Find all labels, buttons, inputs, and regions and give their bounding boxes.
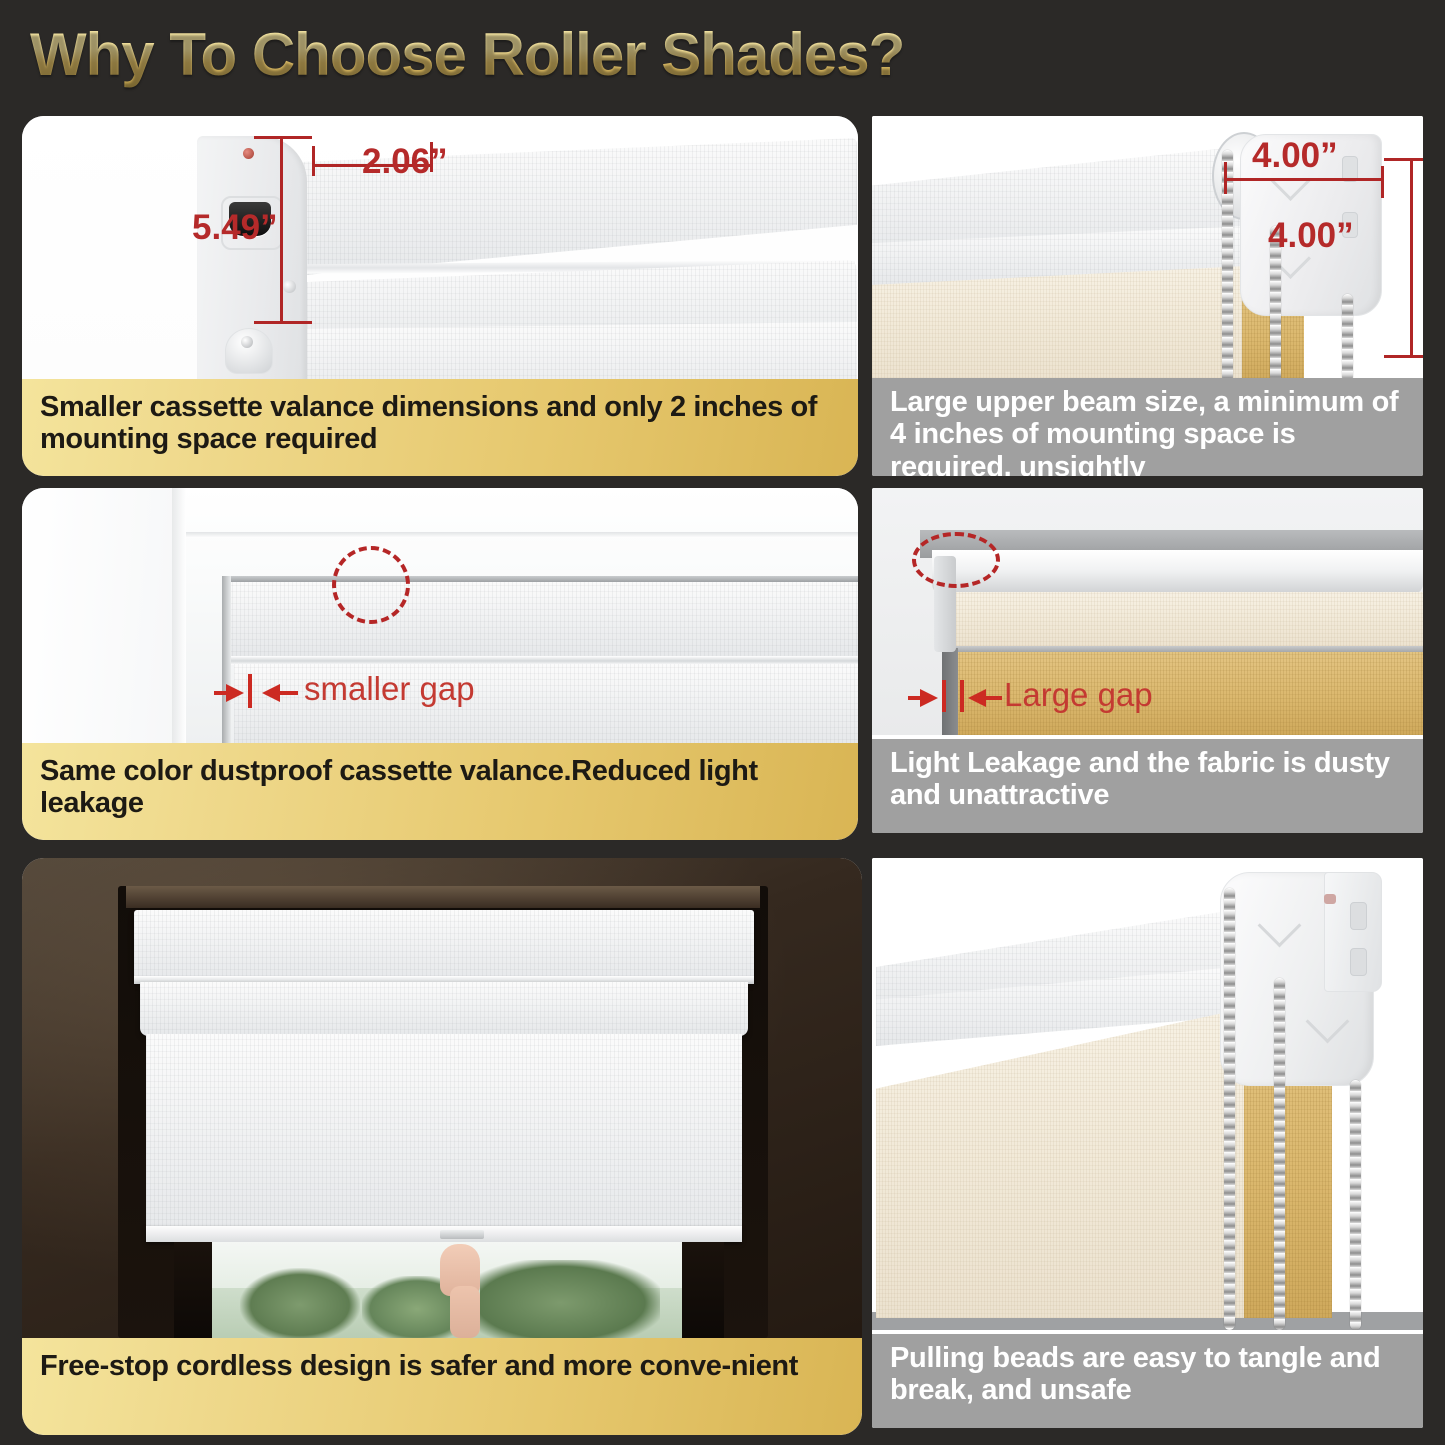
window-frame-closeup-photo: smaller gap [22, 488, 858, 746]
panel-dustproof-cassette-valance: smaller gap Same color dustproof cassett… [22, 488, 858, 840]
panel-free-stop-cordless: Free-stop cordless design is safer and m… [22, 858, 862, 1435]
window-side-jamb-right [682, 1242, 724, 1338]
panel-large-upper-beam: 4.00” 4.00” Large upper beam size, a min… [872, 116, 1423, 476]
caption-free-stop-cordless: Free-stop cordless design is safer and m… [22, 1338, 862, 1435]
page-title: Why To Choose Roller Shades? [30, 20, 904, 89]
beam-height-tick-top [1384, 158, 1423, 161]
width-dimension-label: 2.06” [362, 142, 448, 182]
bead-chain-photo [872, 858, 1423, 1330]
caption-pulling-beads-tangle: Pulling beads are easy to tangle and bre… [872, 1334, 1423, 1428]
width-dimension-tick-left [312, 146, 315, 176]
panel-pulling-beads-tangle: Pulling beads are easy to tangle and bre… [872, 858, 1423, 1428]
beam-width-tick-right [1381, 166, 1384, 198]
beam-height-tick-bottom [1384, 355, 1423, 358]
bead-chain-side [1342, 294, 1353, 382]
height-dimension-tick-bottom [254, 321, 312, 324]
window-top-reveal [126, 886, 760, 908]
valance-left-rail [222, 576, 231, 746]
gap-measure-bar-right [960, 680, 964, 712]
upper-beam-dimension-photo: 4.00” 4.00” [872, 116, 1423, 382]
gap-arrow-right-stem [278, 691, 298, 695]
valance-top-face [272, 138, 857, 278]
bead-chain-front[interactable] [1224, 888, 1235, 1330]
valance-lower-body [275, 322, 857, 379]
bracket-slot-upper [1350, 902, 1367, 930]
gap-arrow-left-stem [908, 696, 922, 700]
valance-dimension-photo: 5.49” 2.06” [22, 116, 858, 379]
gap-measure-bar [248, 674, 252, 708]
rolled-fabric-band [140, 982, 748, 1036]
tree-left [240, 1268, 360, 1338]
valance-screw-upper [283, 280, 296, 293]
smaller-gap-label: smaller gap [304, 670, 475, 708]
caption-light-leakage-dusty: Light Leakage and the fabric is dusty an… [872, 739, 1423, 833]
fabric-cream-panel [872, 266, 1246, 382]
page-header: Why To Choose Roller Shades? [0, 0, 1445, 108]
casing-top-moulding [186, 532, 858, 538]
beam-height-dimension-line [1410, 158, 1413, 358]
valance-screw-top [243, 148, 254, 159]
window-side-jamb-left [174, 1242, 212, 1338]
beam-height-dimension-label: 4.00” [1268, 216, 1354, 256]
caption-dustproof-cassette-valance: Same color dustproof cassette valance.Re… [22, 743, 858, 840]
caption-large-upper-beam: Large upper beam size, a minimum of 4 in… [872, 378, 1423, 476]
fabric-cream-main [876, 1008, 1246, 1318]
gap-measure-bar-left [942, 680, 946, 712]
white-roller-tube [932, 550, 1423, 594]
shade-fabric-main [146, 1034, 742, 1238]
height-dimension-line [280, 136, 283, 324]
valance-screw-lower [241, 336, 253, 348]
forearm [450, 1286, 480, 1338]
beam-width-tick-left [1224, 162, 1227, 194]
beam-width-dimension-line [1224, 178, 1384, 181]
cassette-valance [134, 910, 754, 982]
panel-light-leakage-dusty: Large gap Light Leakage and the fabric i… [872, 488, 1423, 833]
bead-chain-rear[interactable] [1350, 1080, 1361, 1330]
large-gap-label: Large gap [1004, 676, 1153, 714]
caption-smaller-cassette-valance: Smaller cassette valance dimensions and … [22, 379, 858, 476]
casing-inner-edge [172, 488, 186, 746]
gap-highlight-circle [912, 532, 1000, 588]
wall-surface [22, 488, 182, 746]
gap-arrow-right-stem [984, 696, 1002, 700]
gap-arrow-left [920, 689, 938, 707]
height-dimension-tick-top [254, 136, 312, 139]
cordless-window-scene-photo [22, 858, 862, 1338]
bead-chain-middle[interactable] [1274, 978, 1285, 1330]
light-leakage-photo: Large gap [872, 488, 1423, 735]
bracket-slot-lower [1350, 948, 1367, 976]
bracket-indicator-dot [1324, 894, 1336, 904]
height-dimension-label: 5.49” [192, 208, 278, 248]
cream-fabric-band [950, 592, 1423, 650]
tree-right [480, 1260, 660, 1338]
comparison-grid: 5.49” 2.06” Smaller cassette valance dim… [0, 108, 1445, 1445]
panel-smaller-cassette-valance: 5.49” 2.06” Smaller cassette valance dim… [22, 116, 858, 476]
valance-mount-knob [225, 328, 273, 374]
valance-front-face [228, 582, 858, 658]
hand-illustration [428, 1238, 498, 1338]
gap-highlight-circle [332, 546, 410, 624]
gap-arrow-left-stem [214, 691, 230, 695]
beam-width-dimension-label: 4.00” [1252, 136, 1338, 176]
